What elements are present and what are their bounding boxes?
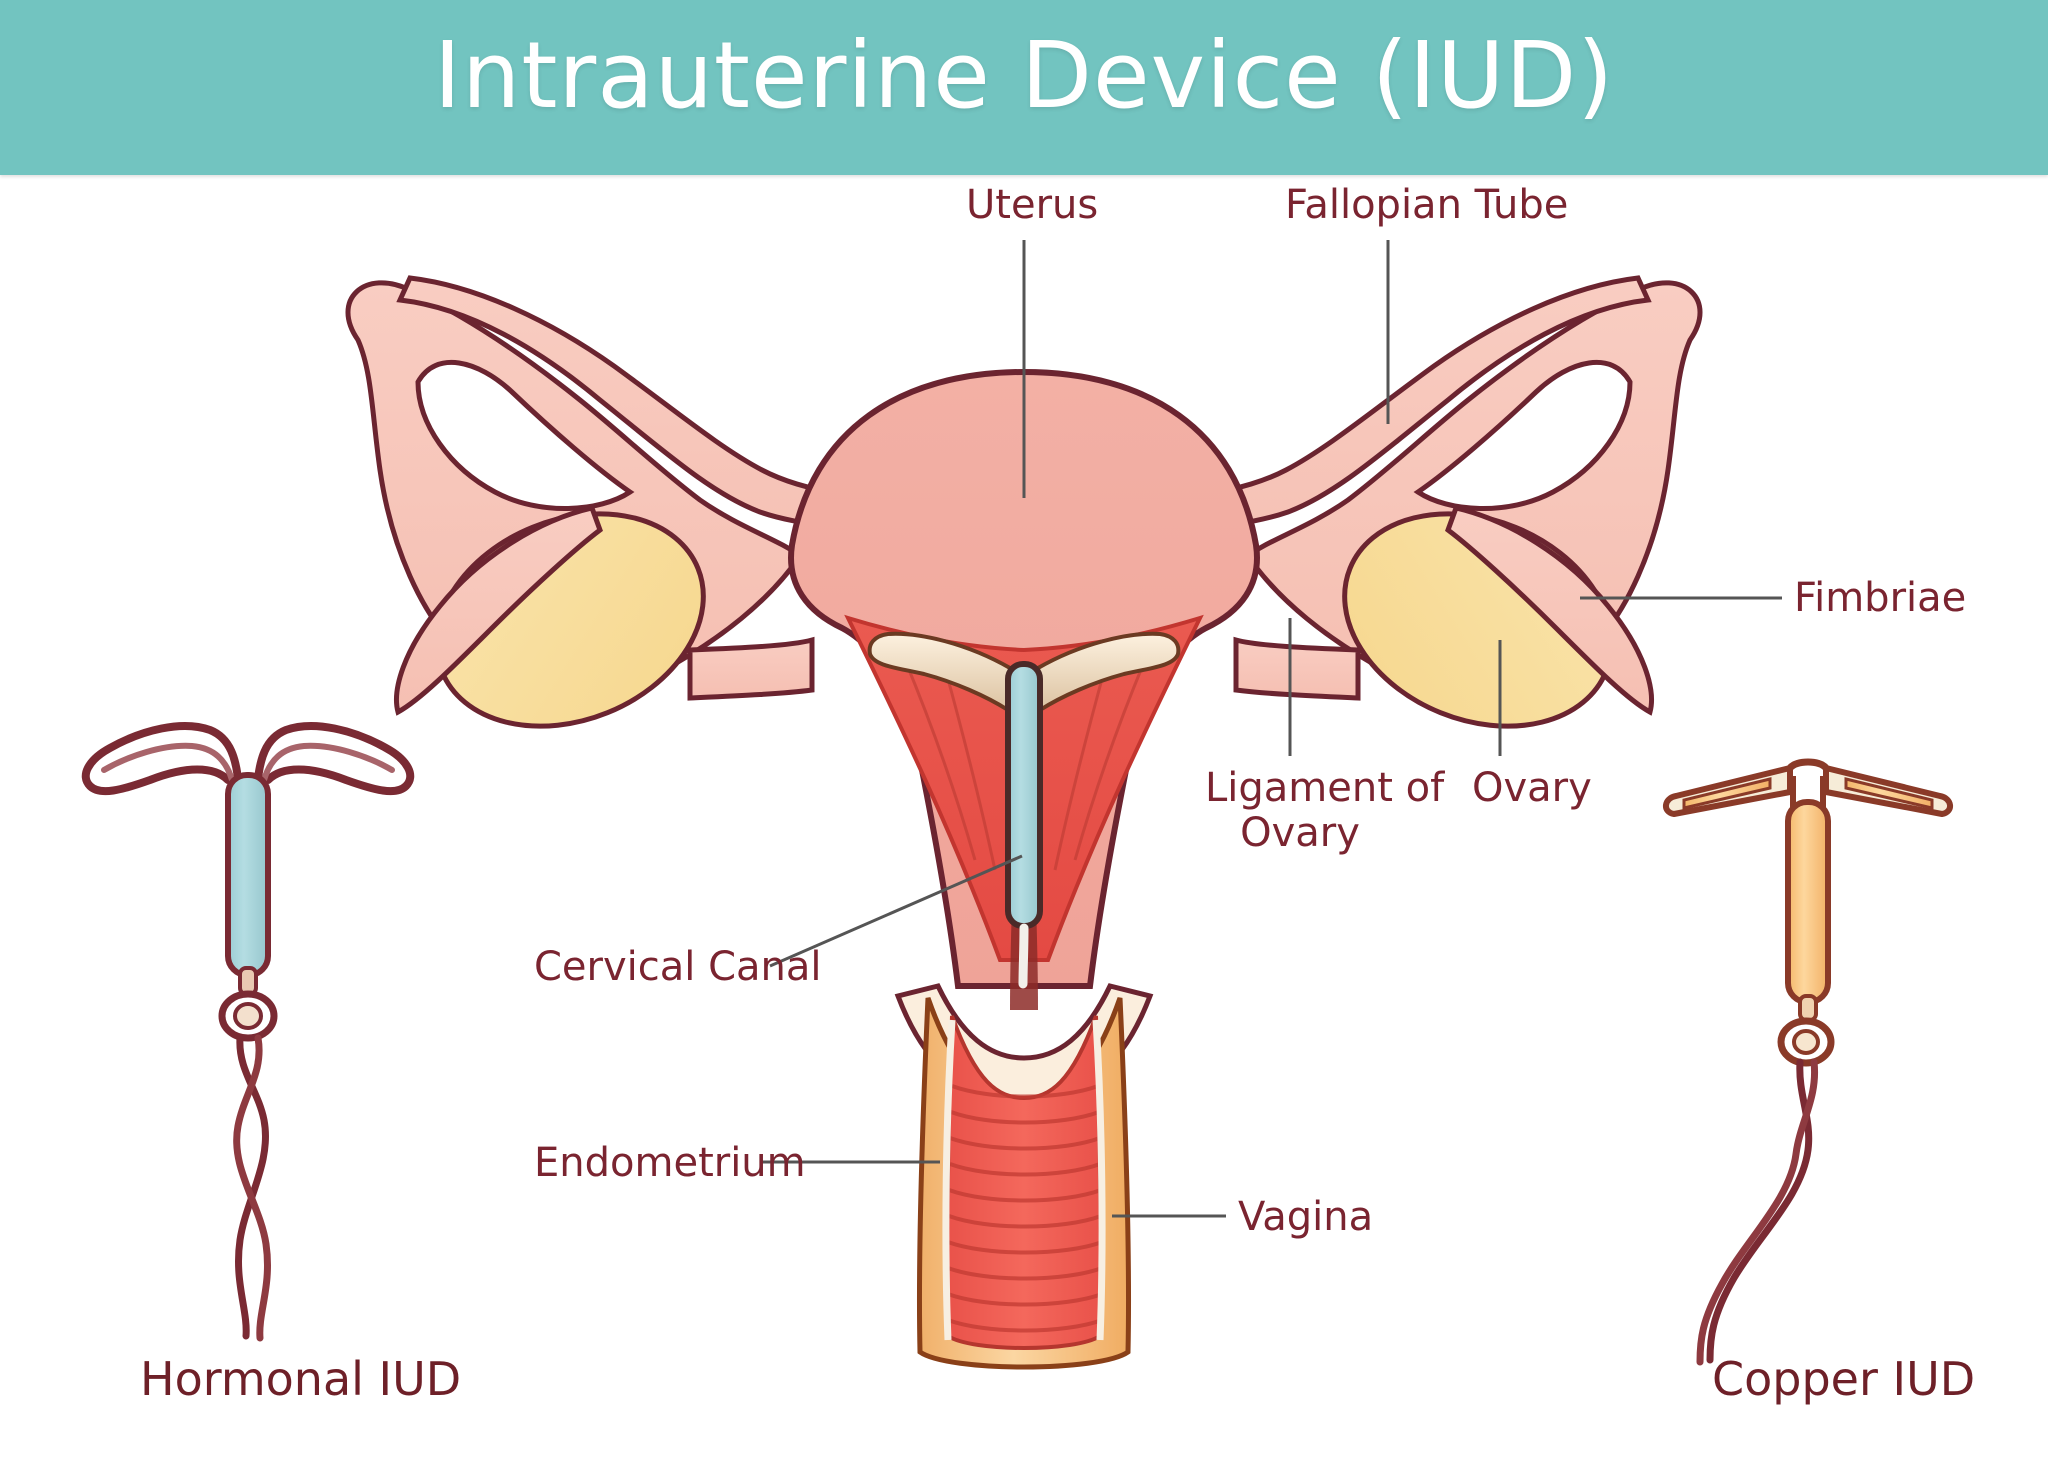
hormonal-iud-loop-inner <box>235 1004 261 1028</box>
copper-iud-top-bar <box>1790 762 1826 768</box>
label-uterus: Uterus <box>966 182 1098 229</box>
label-fallopian-tube: Fallopian Tube <box>1285 182 1568 229</box>
right-ovarian-ligament <box>1236 640 1358 698</box>
copper-iud-string-a <box>1710 1062 1809 1360</box>
label-cervical-canal: Cervical Canal <box>534 944 822 991</box>
caption-hormonal-iud: Hormonal IUD <box>140 1352 461 1406</box>
label-ligament-of-ovary-line2: Ovary <box>1205 810 1395 857</box>
inserted-iud-string <box>1023 928 1024 984</box>
left-ovarian-ligament <box>690 640 812 698</box>
label-fimbriae: Fimbriae <box>1794 575 1966 622</box>
vagina <box>919 998 1128 1367</box>
label-vagina: Vagina <box>1238 1194 1373 1241</box>
copper-iud-loop-inner <box>1794 1031 1818 1053</box>
hormonal-iud-body <box>228 775 268 975</box>
label-endometrium: Endometrium <box>534 1140 806 1187</box>
copper-iud-illustration <box>1666 762 1950 1362</box>
inserted-iud-stem <box>1008 664 1040 926</box>
hormonal-iud-neck <box>240 968 256 994</box>
copper-iud-body <box>1788 802 1828 1002</box>
copper-iud-neck <box>1800 996 1816 1020</box>
label-ovary: Ovary <box>1472 765 1592 812</box>
hormonal-iud-illustration <box>86 726 411 1338</box>
caption-copper-iud: Copper IUD <box>1712 1352 1975 1406</box>
label-ligament-of-ovary-line1: Ligament of <box>1205 765 1395 812</box>
